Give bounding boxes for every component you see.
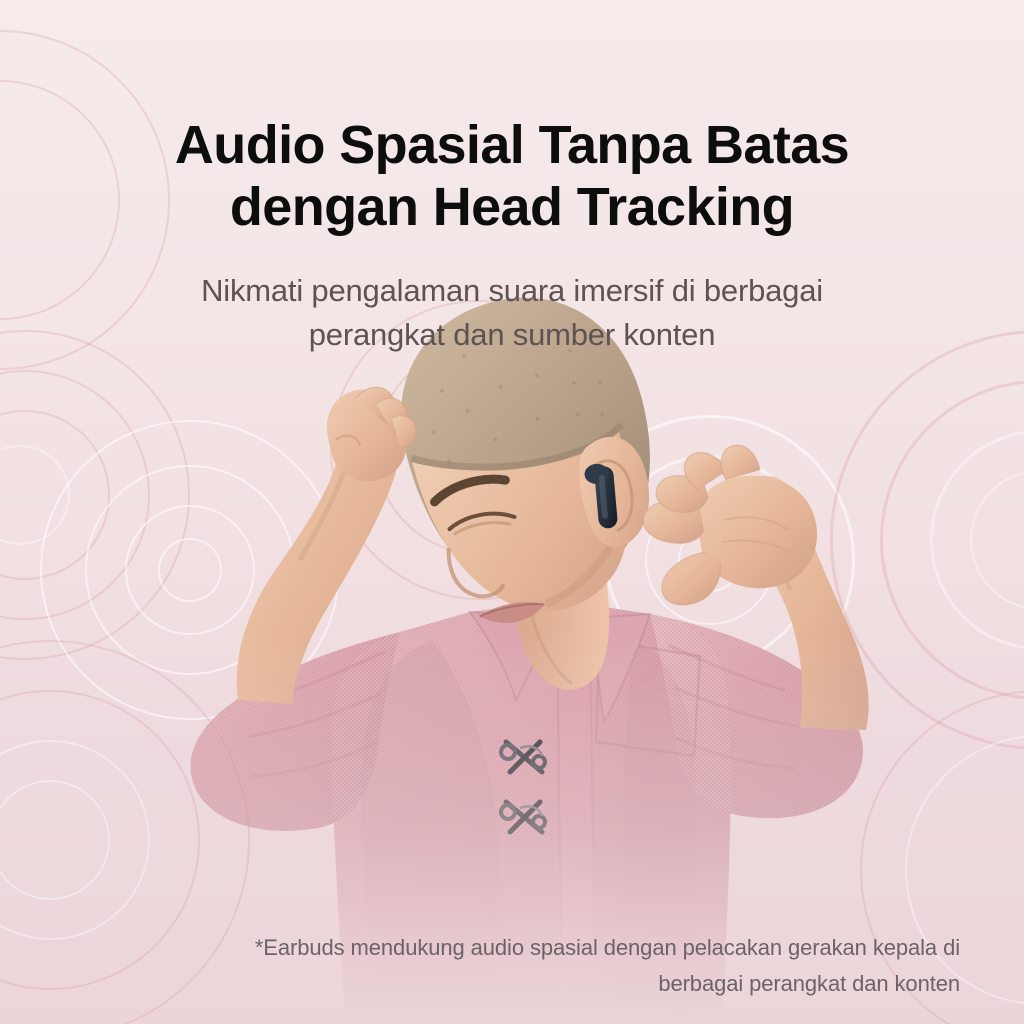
headline: Audio Spasial Tanpa Batas dengan Head Tr… [0, 114, 1024, 238]
subheading-line-2: perangkat dan sumber konten [0, 313, 1024, 357]
finger-pinky [721, 445, 760, 480]
thumb [662, 552, 720, 605]
promo-banner: Audio Spasial Tanpa Batas dengan Head Tr… [0, 0, 1024, 1024]
footnote-line-2: berbagai perangkat dan konten [78, 966, 960, 1002]
headline-line-2: dengan Head Tracking [0, 176, 1024, 238]
subheading-line-1: Nikmati pengalaman suara imersif di berb… [0, 269, 1024, 313]
footnote-line-1: *Earbuds mendukung audio spasial dengan … [78, 930, 960, 966]
headline-line-1: Audio Spasial Tanpa Batas [0, 114, 1024, 176]
subheading: Nikmati pengalaman suara imersif di berb… [0, 269, 1024, 357]
footnote-disclaimer: *Earbuds mendukung audio spasial dengan … [78, 930, 960, 1002]
